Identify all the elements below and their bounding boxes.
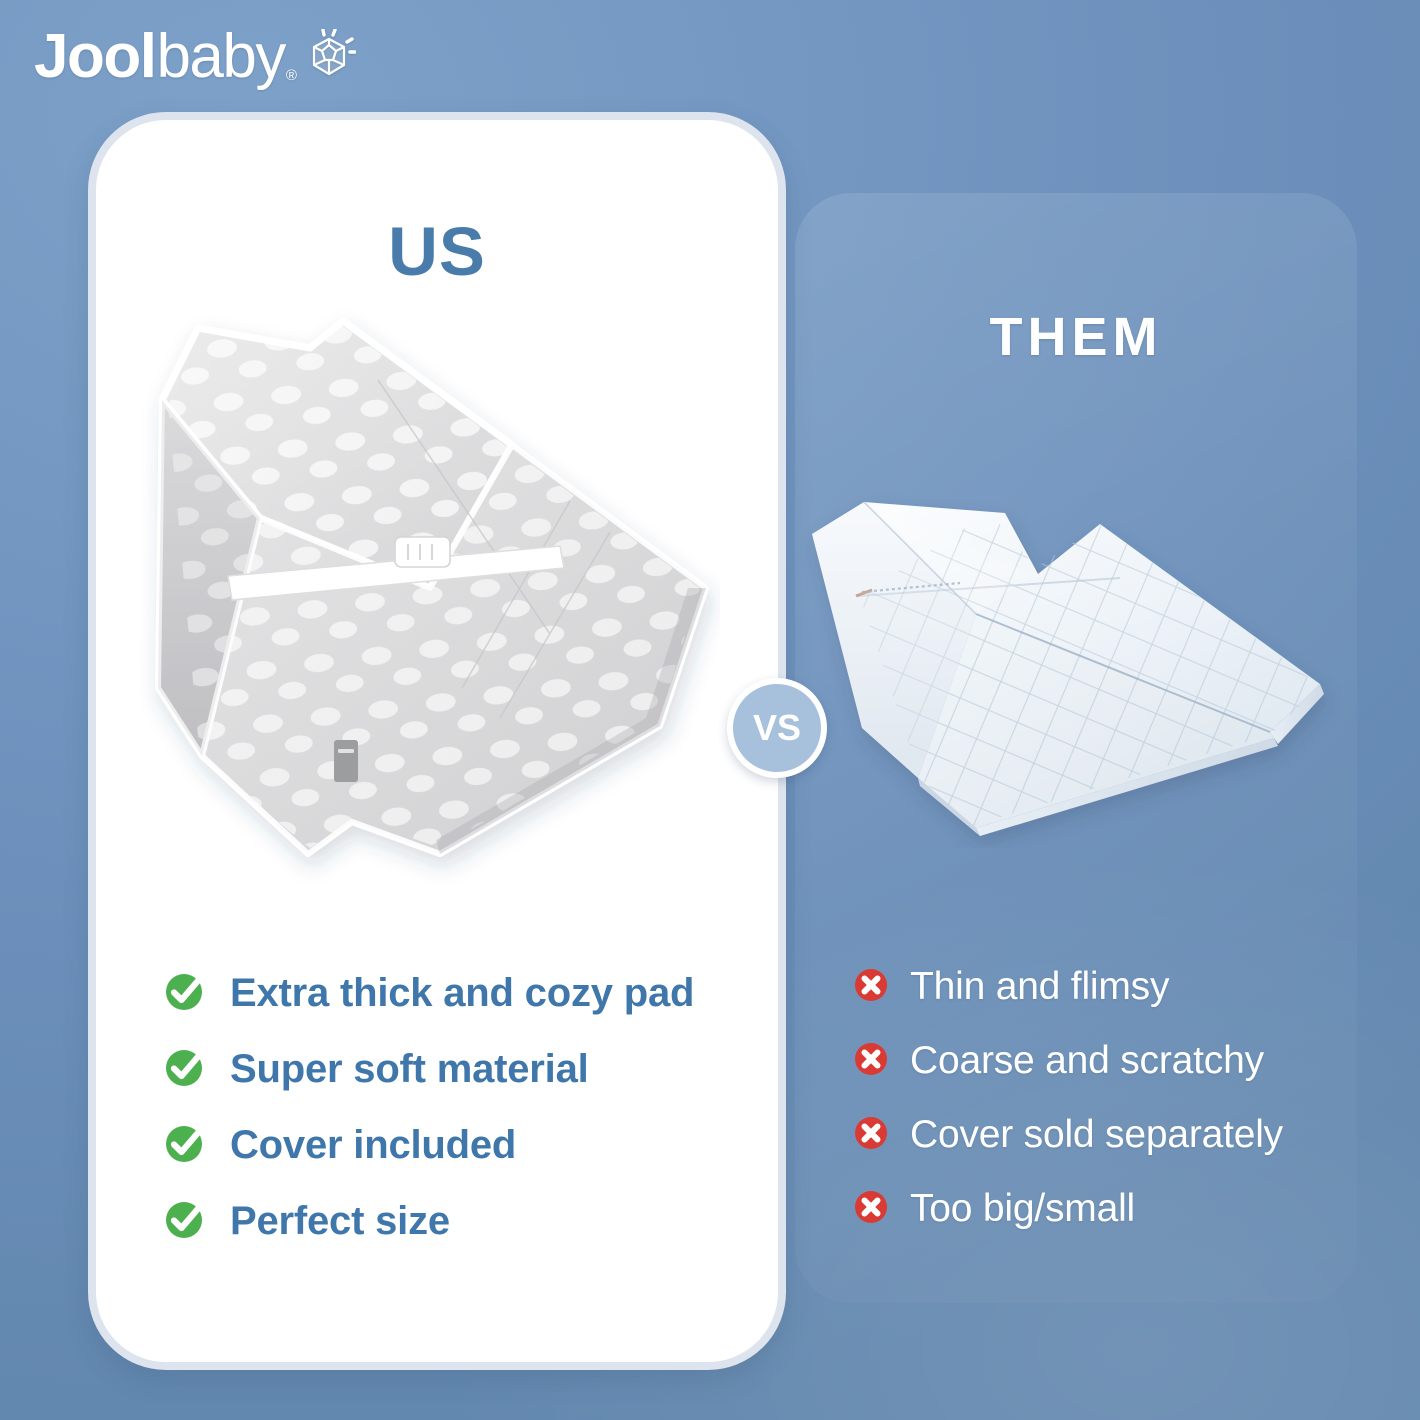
us-feature-label: Perfect size bbox=[230, 1199, 450, 1244]
check-circle-icon bbox=[162, 1044, 208, 1095]
list-item: Cover sold separately bbox=[852, 1098, 1322, 1172]
them-feature-label: Cover sold separately bbox=[910, 1113, 1283, 1157]
list-item: Too big/small bbox=[852, 1172, 1322, 1246]
check-circle-icon bbox=[162, 968, 208, 1019]
list-item: Coarse and scratchy bbox=[852, 1024, 1322, 1098]
registered-mark: ® bbox=[286, 67, 297, 84]
us-feature-list: Extra thick and cozy pad Super soft mate… bbox=[162, 955, 742, 1259]
us-title: US bbox=[96, 212, 778, 291]
brand-name-light: baby bbox=[156, 26, 284, 88]
us-feature-label: Cover included bbox=[230, 1123, 516, 1168]
brand-name-bold: Jool bbox=[34, 26, 155, 88]
list-item: Cover included bbox=[162, 1107, 742, 1183]
them-feature-label: Thin and flimsy bbox=[910, 965, 1169, 1009]
them-feature-label: Too big/small bbox=[910, 1187, 1135, 1231]
x-circle-icon bbox=[852, 1114, 890, 1157]
them-feature-label: Coarse and scratchy bbox=[910, 1039, 1264, 1083]
list-item: Thin and flimsy bbox=[852, 950, 1322, 1024]
list-item: Super soft material bbox=[162, 1031, 742, 1107]
x-circle-icon bbox=[852, 1040, 890, 1083]
x-circle-icon bbox=[852, 966, 890, 1009]
us-product-image bbox=[140, 288, 720, 918]
us-feature-label: Extra thick and cozy pad bbox=[230, 971, 694, 1016]
check-circle-icon bbox=[162, 1120, 208, 1171]
us-feature-label: Super soft material bbox=[230, 1047, 589, 1092]
them-product-image bbox=[800, 478, 1340, 848]
list-item: Perfect size bbox=[162, 1183, 742, 1259]
them-title: THEM bbox=[795, 306, 1357, 368]
brand-logo: Jool baby ® bbox=[34, 26, 356, 88]
geometric-star-gem-icon bbox=[302, 29, 356, 83]
check-circle-icon bbox=[162, 1196, 208, 1247]
x-circle-icon bbox=[852, 1188, 890, 1231]
list-item: Extra thick and cozy pad bbox=[162, 955, 742, 1031]
vs-badge: VS bbox=[727, 678, 827, 778]
them-feature-list: Thin and flimsy Coarse and scratchy Cove… bbox=[852, 950, 1322, 1246]
